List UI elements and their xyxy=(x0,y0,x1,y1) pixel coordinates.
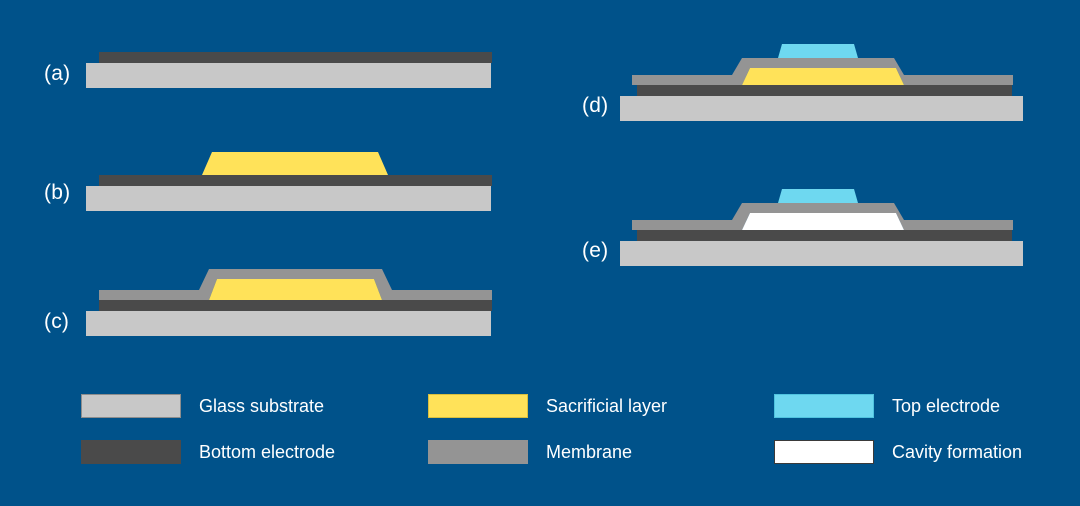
legend-item-membrane: Membrane xyxy=(428,440,632,464)
panel-d-stack xyxy=(620,42,1030,122)
panel-label-a: (a) xyxy=(44,63,70,84)
legend-swatch-top-electrode xyxy=(774,394,874,418)
panel-c-stack xyxy=(86,263,496,337)
bottom-electrode-layer xyxy=(99,300,492,311)
glass-substrate-layer xyxy=(620,96,1023,121)
cavity-region xyxy=(742,213,904,230)
legend-swatch-glass-substrate xyxy=(81,394,181,418)
legend-label-membrane: Membrane xyxy=(546,443,632,461)
legend-label-glass-substrate: Glass substrate xyxy=(199,397,324,415)
legend-label-top-electrode: Top electrode xyxy=(892,397,1000,415)
legend-swatch-sacrificial-layer xyxy=(428,394,528,418)
legend-label-bottom-electrode: Bottom electrode xyxy=(199,443,335,461)
top-electrode-layer xyxy=(778,189,858,203)
panel-b-stack xyxy=(86,146,496,212)
panel-label-b: (b) xyxy=(44,182,70,203)
bottom-electrode-layer xyxy=(99,175,492,186)
glass-substrate-layer xyxy=(86,311,491,336)
bottom-electrode-layer xyxy=(637,230,1012,241)
sacrificial-layer xyxy=(202,152,388,175)
sacrificial-layer xyxy=(742,68,904,85)
glass-substrate-layer xyxy=(620,241,1023,266)
glass-substrate-layer xyxy=(86,186,491,211)
legend-item-top-electrode: Top electrode xyxy=(774,394,1000,418)
top-electrode-layer xyxy=(778,44,858,58)
legend-swatch-bottom-electrode xyxy=(81,440,181,464)
glass-substrate-layer xyxy=(86,63,491,88)
sacrificial-layer xyxy=(209,279,382,300)
legend-label-cavity-formation: Cavity formation xyxy=(892,443,1022,461)
panel-e-stack xyxy=(620,187,1030,267)
legend-item-cavity-formation: Cavity formation xyxy=(774,440,1022,464)
legend-item-bottom-electrode: Bottom electrode xyxy=(81,440,335,464)
bottom-electrode-layer xyxy=(99,52,492,63)
panel-label-c: (c) xyxy=(44,311,69,332)
legend-swatch-membrane xyxy=(428,440,528,464)
panel-label-e: (e) xyxy=(582,240,608,261)
legend-item-glass-substrate: Glass substrate xyxy=(81,394,324,418)
legend-item-sacrificial-layer: Sacrificial layer xyxy=(428,394,667,418)
bottom-electrode-layer xyxy=(637,85,1012,96)
panel-label-d: (d) xyxy=(582,95,608,116)
legend-label-sacrificial-layer: Sacrificial layer xyxy=(546,397,667,415)
legend-swatch-cavity-formation xyxy=(774,440,874,464)
panel-a-stack xyxy=(86,46,496,96)
process-flow-figure: (a) (b) (c) (d) xyxy=(0,0,1080,506)
